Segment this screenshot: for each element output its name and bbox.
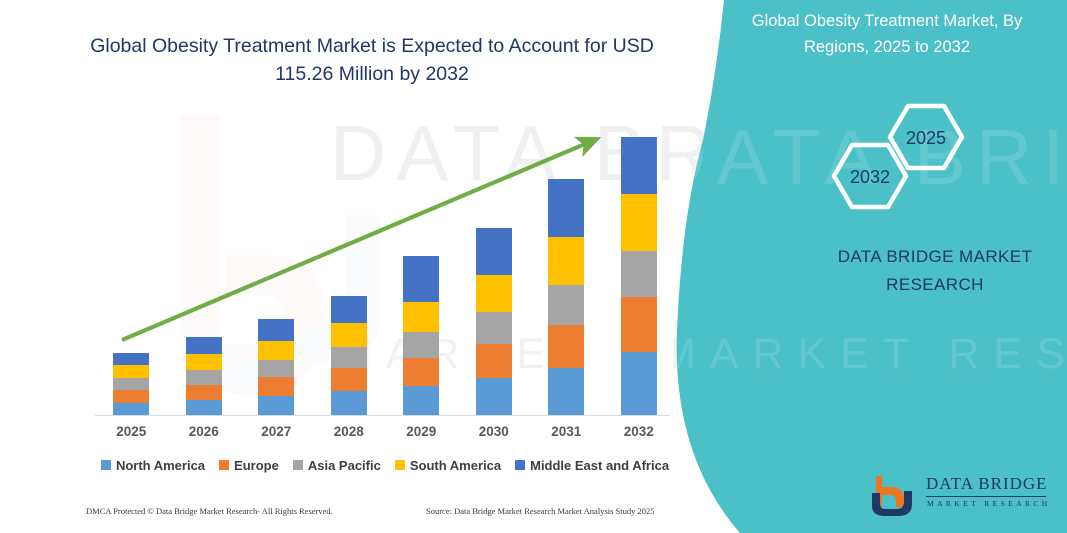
x-axis-label-2029: 2029 [386,424,456,439]
bar-segment-2026-north-america [186,400,222,416]
legend-swatch-icon [101,460,111,470]
bar-segment-2026-south-america [186,354,222,370]
bar-2028 [331,296,367,416]
bar-segment-2025-europe [113,390,149,403]
legend-label: Asia Pacific [308,458,381,473]
x-axis-label-2031: 2031 [531,424,601,439]
bar-segment-2030-south-america [476,275,512,312]
infographic-slide: DATA BRIDGE MARKET RESEARCH Global Obesi… [0,0,1067,533]
legend-swatch-icon [293,460,303,470]
legend-swatch-icon [515,460,525,470]
page-title: Global Obesity Treatment Market is Expec… [62,32,682,88]
bar-segment-2032-north-america [621,352,657,416]
legend-label: South America [410,458,501,473]
stacked-bar-chart [95,120,675,416]
bar-segment-2032-asia-pacific [621,251,657,297]
bar-2032 [621,137,657,416]
hexagon-2025-label: 2025 [906,128,946,148]
bar-segment-2027-south-america [258,341,294,360]
bar-2029 [403,256,439,416]
hexagon-badges: 2025 2032 [820,98,990,218]
bar-segment-2028-asia-pacific [331,347,367,368]
footer-copyright: DMCA Protected © Data Bridge Market Rese… [86,506,333,516]
bar-2025 [113,353,149,416]
bar-segment-2029-asia-pacific [403,332,439,358]
legend-item-north-america[interactable]: North America [101,458,205,473]
bar-segment-2031-middle-east-and-africa [548,179,584,237]
x-axis-label-2028: 2028 [314,424,384,439]
bar-segment-2029-middle-east-and-africa [403,256,439,302]
legend-label: North America [116,458,205,473]
brand-logo-divider [926,496,1046,497]
x-axis-label-2032: 2032 [604,424,674,439]
bar-segment-2031-asia-pacific [548,285,584,325]
brand-logo-tagline: MARKET RESEARCH [927,499,1051,508]
legend-item-asia-pacific[interactable]: Asia Pacific [293,458,381,473]
x-axis-label-2030: 2030 [459,424,529,439]
hexagon-2032-label: 2032 [850,167,890,187]
bar-segment-2032-south-america [621,194,657,251]
bar-segment-2029-europe [403,358,439,386]
bar-segment-2030-middle-east-and-africa [476,228,512,275]
bar-2030 [476,228,512,416]
legend-swatch-icon [395,460,405,470]
bar-segment-2029-south-america [403,302,439,332]
bar-segment-2026-asia-pacific [186,370,222,385]
bar-segment-2028-south-america [331,323,367,347]
bar-segment-2028-middle-east-and-africa [331,296,367,323]
bar-2031 [548,179,584,416]
bar-2027 [258,319,294,416]
bar-segment-2030-europe [476,344,512,378]
bar-segment-2029-north-america [403,386,439,416]
bar-segment-2030-asia-pacific [476,312,512,344]
bar-segment-2031-europe [548,325,584,368]
bar-segment-2025-middle-east-and-africa [113,353,149,365]
footer-source: Source: Data Bridge Market Research Mark… [426,506,655,516]
bar-segment-2027-asia-pacific [258,360,294,377]
x-axis-label-2027: 2027 [241,424,311,439]
bar-segment-2026-middle-east-and-africa [186,337,222,354]
brand-logo-name: DATA BRIDGE [926,474,1048,494]
x-axis-labels: 20252026202720282029203020312032 [95,424,675,444]
bar-segment-2028-europe [331,368,367,391]
bar-segment-2031-north-america [548,368,584,416]
panel-brand-line1: DATA BRIDGE MARKET [790,243,1067,271]
bar-segment-2026-europe [186,385,222,400]
bar-segment-2027-middle-east-and-africa [258,319,294,341]
x-axis-label-2025: 2025 [96,424,166,439]
x-axis-label-2026: 2026 [169,424,239,439]
bar-segment-2032-europe [621,297,657,352]
bar-segment-2025-asia-pacific [113,378,149,390]
chart-legend: North AmericaEuropeAsia PacificSouth Ame… [95,455,675,475]
legend-swatch-icon [219,460,229,470]
legend-label: Middle East and Africa [530,458,669,473]
x-axis-line [95,415,670,416]
bar-segment-2030-north-america [476,378,512,416]
legend-item-south-america[interactable]: South America [395,458,501,473]
legend-item-middle-east-and-africa[interactable]: Middle East and Africa [515,458,669,473]
footer: DMCA Protected © Data Bridge Market Rese… [0,506,700,526]
bar-segment-2032-middle-east-and-africa [621,137,657,194]
legend-item-europe[interactable]: Europe [219,458,279,473]
brand-logo-icon [866,473,922,519]
bar-segment-2031-south-america [548,237,584,285]
bar-segment-2028-north-america [331,391,367,416]
panel-brand-line2: RESEARCH [790,271,1067,299]
bar-segment-2027-north-america [258,396,294,416]
legend-label: Europe [234,458,279,473]
bar-segment-2025-south-america [113,365,149,378]
panel-brand: DATA BRIDGE MARKET RESEARCH [790,243,1067,299]
bar-segment-2027-europe [258,377,294,396]
bar-2026 [186,337,222,416]
panel-title: Global Obesity Treatment Market, By Regi… [727,8,1047,60]
brand-logo: DATA BRIDGE MARKET RESEARCH [866,473,1051,519]
